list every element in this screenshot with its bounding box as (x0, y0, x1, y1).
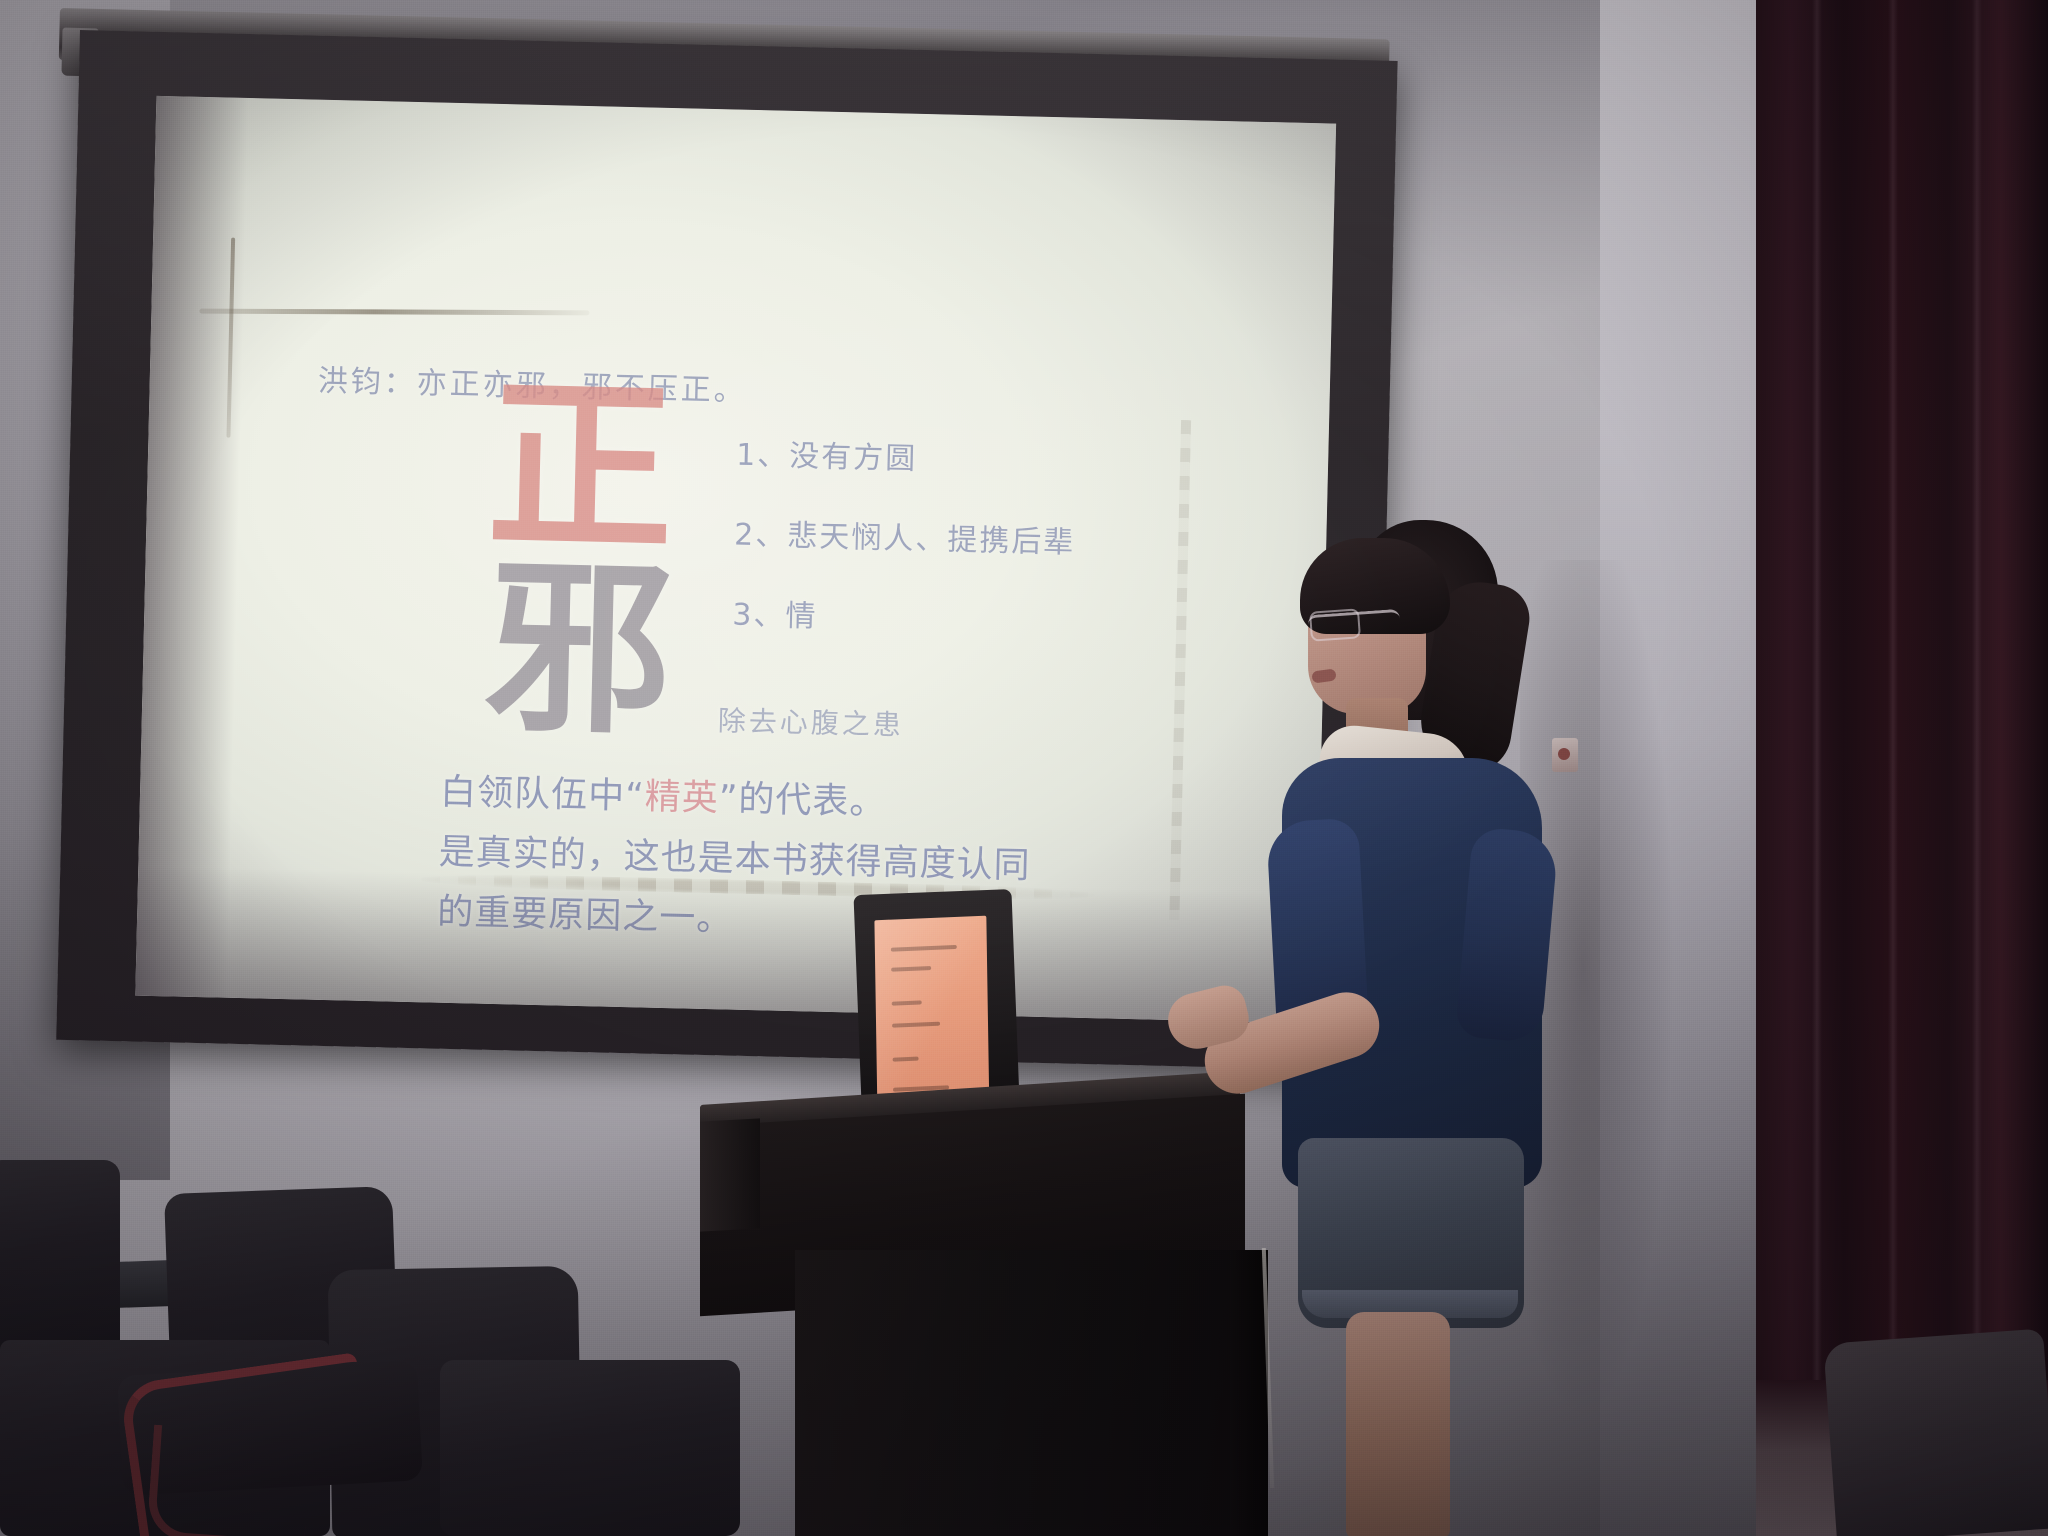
projection-screen-frame: 洪钧：亦正亦邪，邪不压正。 正 邪 1、没有方圆 2、悲天悯人、提携后辈 3、情… (56, 30, 1397, 1071)
presenter (1250, 520, 1580, 1536)
paragraph-1-pre: 白领队伍中“ (440, 772, 646, 818)
ink-brush-horizontal-icon (199, 309, 589, 316)
presenter-leg (1346, 1312, 1450, 1536)
dark-curtain (1756, 0, 2048, 1460)
glasses-lens-icon (1309, 608, 1361, 641)
presenter-right-sleeve (1455, 827, 1559, 1044)
chair (1823, 1329, 2048, 1536)
big-character-zheng: 正 (486, 372, 676, 562)
slide-bullet-3: 3、情 (732, 590, 818, 636)
projection-bottom-shadow (135, 866, 1318, 1024)
slide-sub-note: 除去心腹之患 (717, 699, 904, 743)
chair-frame-lower (146, 1425, 312, 1536)
chair (440, 1360, 740, 1536)
lectern-side-panel (700, 1118, 760, 1231)
slide-paragraph-line-1: 白领队伍中“精英”的代表。 (440, 763, 887, 826)
paragraph-1-highlight: 精英 (644, 777, 719, 820)
ink-wave-vertical-icon (1169, 420, 1191, 920)
classroom-photo: 洪钧：亦正亦邪，邪不压正。 正 邪 1、没有方圆 2、悲天悯人、提携后辈 3、情… (0, 0, 2048, 1536)
lectern-column (795, 1250, 1265, 1536)
big-character-xie: 邪 (483, 554, 673, 744)
projection-screen-surface: 洪钧：亦正亦邪，邪不压正。 正 邪 1、没有方圆 2、悲天悯人、提携后辈 3、情… (135, 96, 1336, 1024)
slide-bullet-2: 2、悲天悯人、提携后辈 (734, 510, 1076, 562)
chair (0, 1160, 120, 1350)
slide-bullet-1: 1、没有方圆 (736, 430, 918, 478)
paragraph-1-post: ”的代表。 (718, 778, 887, 823)
